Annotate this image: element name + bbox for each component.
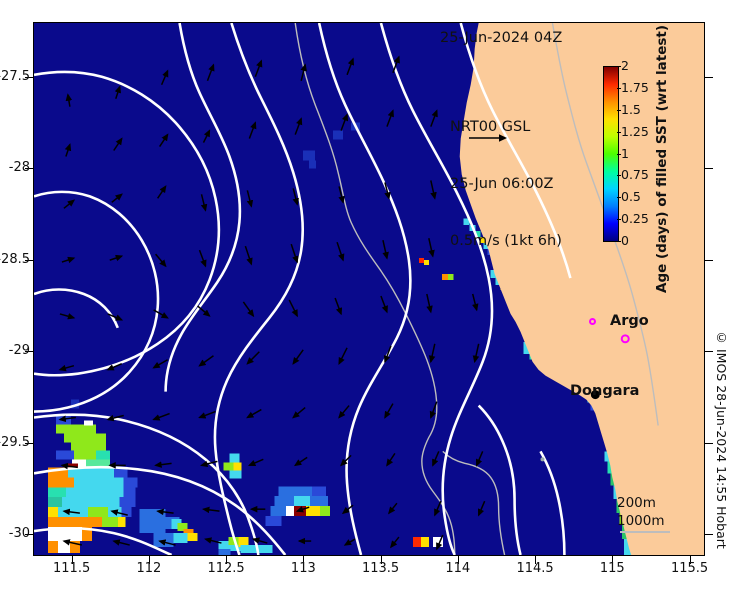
legend-argo: Argo <box>589 313 649 329</box>
x-axis-tick-label: 113.5 <box>346 562 416 575</box>
x-axis-tick-label: 111.5 <box>37 562 107 575</box>
depth-legend-line <box>620 531 670 533</box>
current-scale-label: 0.5m/s (1kt 6h) <box>450 232 562 251</box>
y-axis-tick-label: -28 <box>0 161 30 174</box>
colorbar-tick-label: 0 <box>621 235 629 248</box>
current-overlay-info: NRT00 GSL 25-Jun 06:00Z 0.5m/s (1kt 6h) <box>450 80 562 289</box>
depth-contour-legend: 200m 1000m <box>617 494 665 530</box>
depth-1000m-label: 1000m <box>617 512 665 530</box>
x-axis-tick-label: 113 <box>268 562 338 575</box>
y-axis-tick-mark-right <box>705 260 713 261</box>
y-axis-tick-mark-right <box>705 77 713 78</box>
colorbar-tick-label: 1.75 <box>621 82 649 95</box>
y-axis-tick-mark-right <box>705 351 713 352</box>
colorbar-tick-label: 0.75 <box>621 169 649 182</box>
y-axis-tick-label: -28.5 <box>0 253 30 266</box>
colorbar-tick-label: 2 <box>621 60 629 73</box>
colorbar-tick-label: 0.5 <box>621 191 641 204</box>
y-axis-tick-mark-right <box>705 534 713 535</box>
y-axis-tick-mark-right <box>705 443 713 444</box>
figure-canvas: 25-Jun-2024 04Z NRT00 GSL 25-Jun 06:00Z … <box>0 0 740 592</box>
x-axis-tick-label: 115.5 <box>655 562 725 575</box>
argo-marker-icon <box>589 318 596 325</box>
dongara-place-label: Dongara <box>570 383 639 399</box>
depth-200m-label: 200m <box>617 494 665 512</box>
x-axis-tick-label: 114.5 <box>500 562 570 575</box>
copyright-label: © IMOS 28-Jun-2024 14:55 Hobart <box>714 330 729 549</box>
right-arrow-icon <box>468 132 508 144</box>
x-axis-tick-label: 114 <box>423 562 493 575</box>
y-axis-tick-label: -30 <box>0 527 30 540</box>
timestamp-label: 25-Jun-2024 04Z <box>440 30 562 46</box>
x-axis-tick-label: 112.5 <box>191 562 261 575</box>
x-axis-tick-label: 112 <box>114 562 184 575</box>
y-axis-tick-label: -29 <box>0 344 30 357</box>
x-axis-tick-label: 115 <box>577 562 647 575</box>
colorbar-tick-label: 1.5 <box>621 104 641 117</box>
y-axis-tick-mark-right <box>705 168 713 169</box>
colorbar-axis-label: Age (days) of filled SST (wrt latest) <box>650 34 674 284</box>
argo-legend-label: Argo <box>610 313 649 329</box>
y-axis-tick-label: -27.5 <box>0 70 30 83</box>
unlabeled-station-marker[interactable] <box>540 457 544 461</box>
colorbar-tick-label: 0.25 <box>621 213 649 226</box>
current-valid-time-label: 25-Jun 06:00Z <box>450 175 562 194</box>
colorbar: 21.751.51.2510.750.50.250 <box>603 66 619 242</box>
colorbar-tick-label: 1.25 <box>621 125 649 138</box>
y-axis-tick-label: -29.5 <box>0 436 30 449</box>
colorbar-tick-label: 1 <box>621 147 629 160</box>
